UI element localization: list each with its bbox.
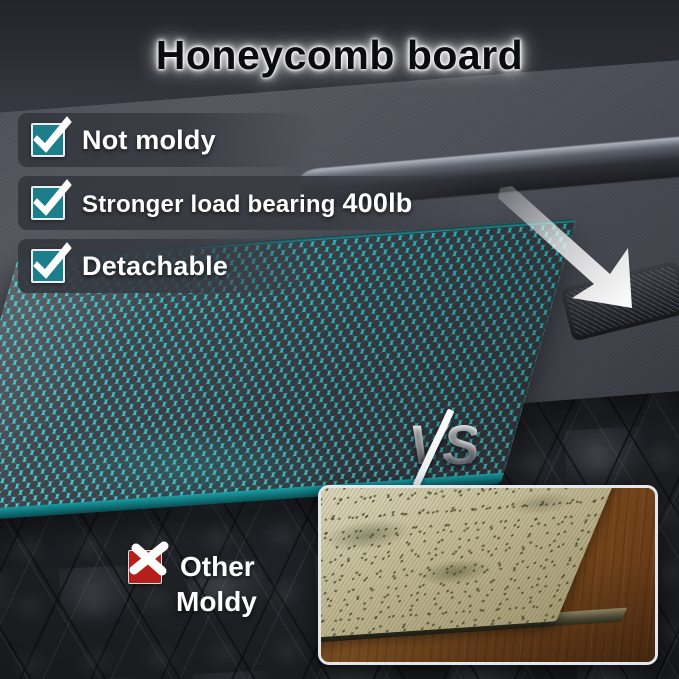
feature-list: Not moldy Stronger load bearing 400lb De…: [18, 113, 488, 302]
checkmark-icon: [31, 123, 65, 157]
negative-comparison-block: Other Moldy: [128, 550, 328, 618]
x-mark-icon: [128, 550, 162, 584]
feature-label-text: Stronger load bearing: [82, 191, 342, 218]
negative-row: Other: [128, 550, 328, 584]
feature-row-not-moldy: Not moldy: [18, 113, 318, 167]
feature-row-detachable: Detachable: [18, 239, 318, 293]
feature-label-emphasis: 400lb: [342, 188, 412, 218]
negative-label-primary: Other: [180, 551, 255, 583]
arrow-down-right-icon: [498, 186, 678, 316]
moldy-board-photo: [318, 485, 658, 665]
page-title: Honeycomb board: [0, 32, 679, 79]
feature-row-load-bearing: Stronger load bearing 400lb: [18, 176, 488, 230]
product-feature-image: Honeycomb board Not moldy Stronger load …: [0, 0, 679, 679]
feature-label: Not moldy: [82, 125, 216, 156]
versus-badge: VS: [408, 412, 492, 482]
feature-label: Stronger load bearing 400lb: [82, 188, 412, 219]
negative-label-secondary: Moldy: [176, 586, 328, 618]
checkmark-icon: [31, 249, 65, 283]
feature-label: Detachable: [82, 251, 228, 282]
checkmark-icon: [31, 186, 65, 220]
